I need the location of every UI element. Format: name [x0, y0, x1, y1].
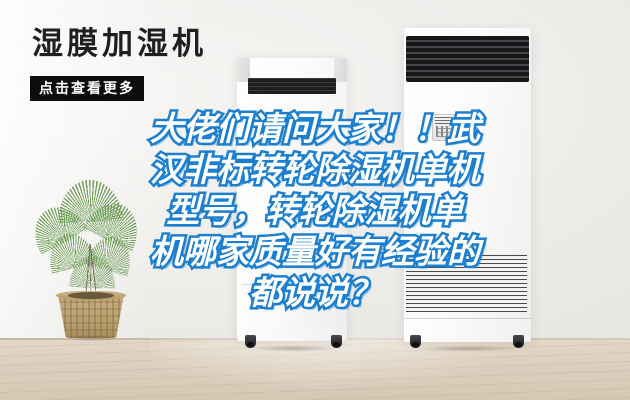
screenshot-root: 湿膜加湿机 点击查看更多 大佬们请问大家！！武 汉非标转轮除湿机单机 型号，转轮…	[0, 0, 630, 400]
headline-overlay-text: 大佬们请问大家！！武 汉非标转轮除湿机单机 型号，转轮除湿机单 机哪家质量好有经…	[72, 108, 558, 313]
machine-shadow	[236, 344, 352, 353]
brand-title: 湿膜加湿机	[32, 28, 207, 59]
top-intake-grille	[248, 78, 336, 94]
view-more-button[interactable]: 点击查看更多	[30, 76, 144, 101]
plant-shadow	[56, 333, 130, 343]
machine-base-panel	[404, 318, 531, 342]
machine-shadow	[402, 344, 535, 353]
top-intake-grille	[406, 36, 529, 82]
